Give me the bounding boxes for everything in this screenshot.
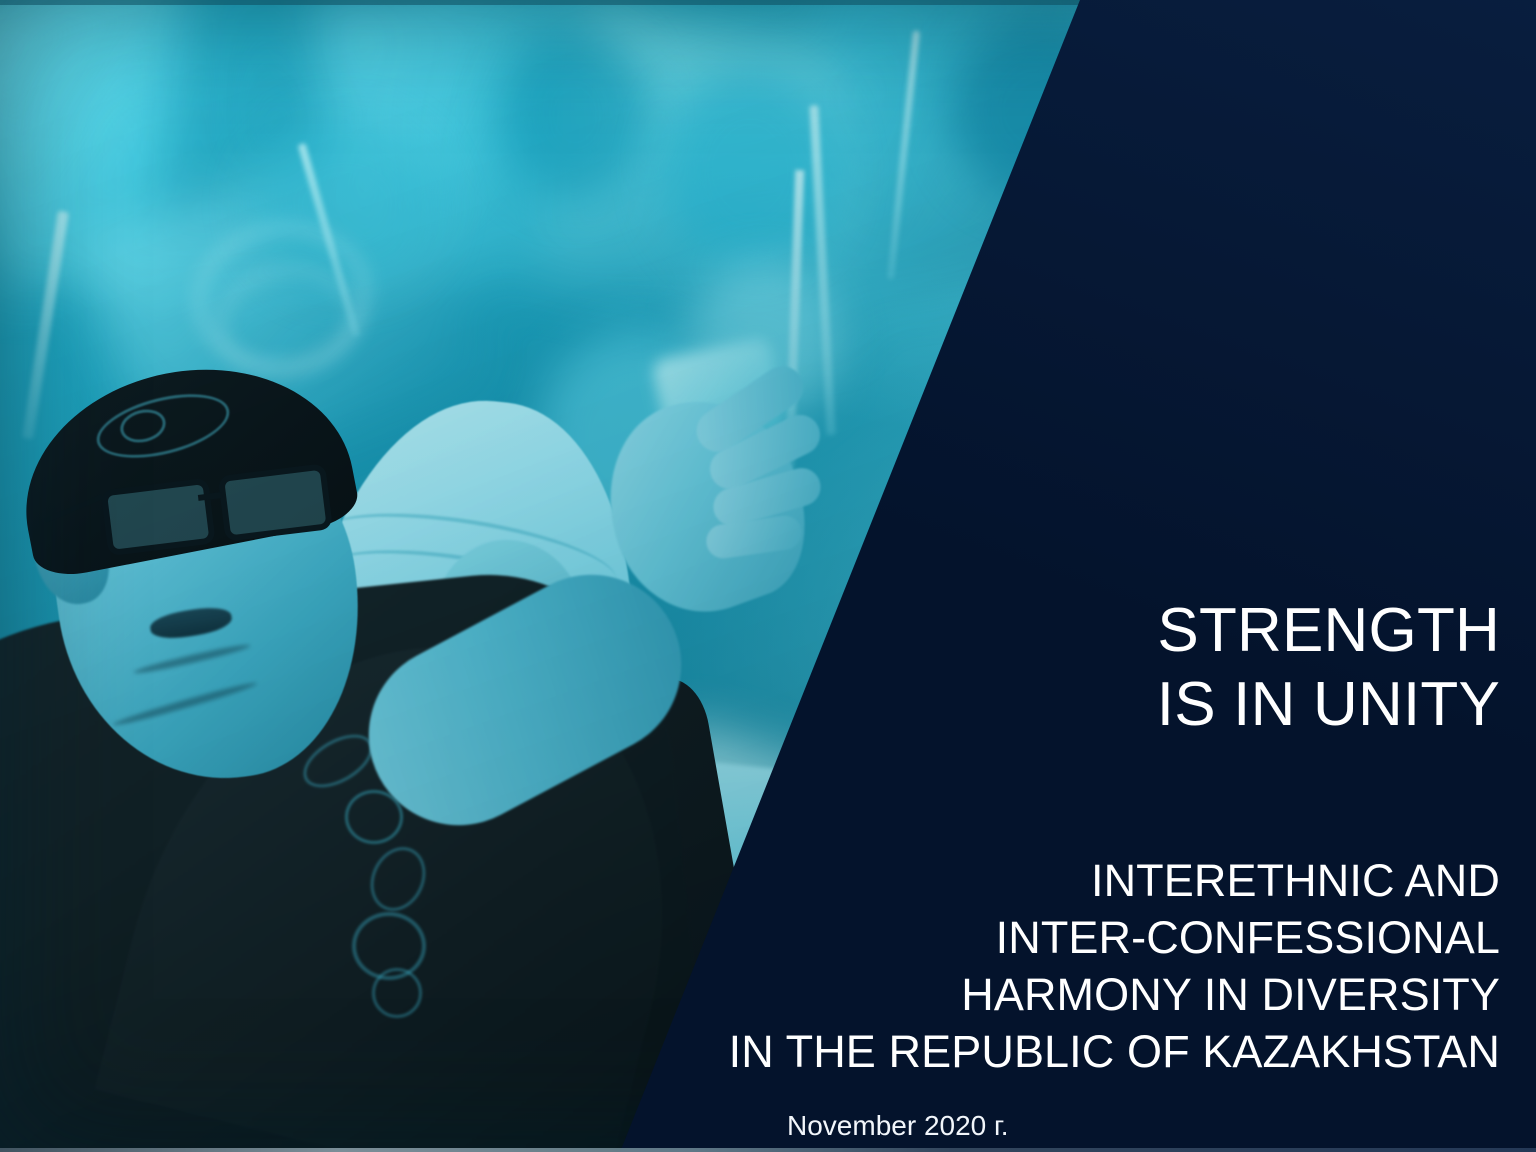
date-label: November 2020 г. bbox=[787, 1112, 1009, 1140]
page-subtitle: INTERETHNIC AND INTER-CONFESSIONAL HARMO… bbox=[620, 742, 1500, 1081]
title-text-block: STRENGTH IS IN UNITY INTERETHNIC AND INT… bbox=[620, 594, 1500, 1080]
bottom-edge-strip bbox=[0, 1148, 1536, 1152]
page-title: STRENGTH IS IN UNITY bbox=[620, 594, 1500, 742]
title-slide: STRENGTH IS IN UNITY INTERETHNIC AND INT… bbox=[0, 0, 1536, 1152]
